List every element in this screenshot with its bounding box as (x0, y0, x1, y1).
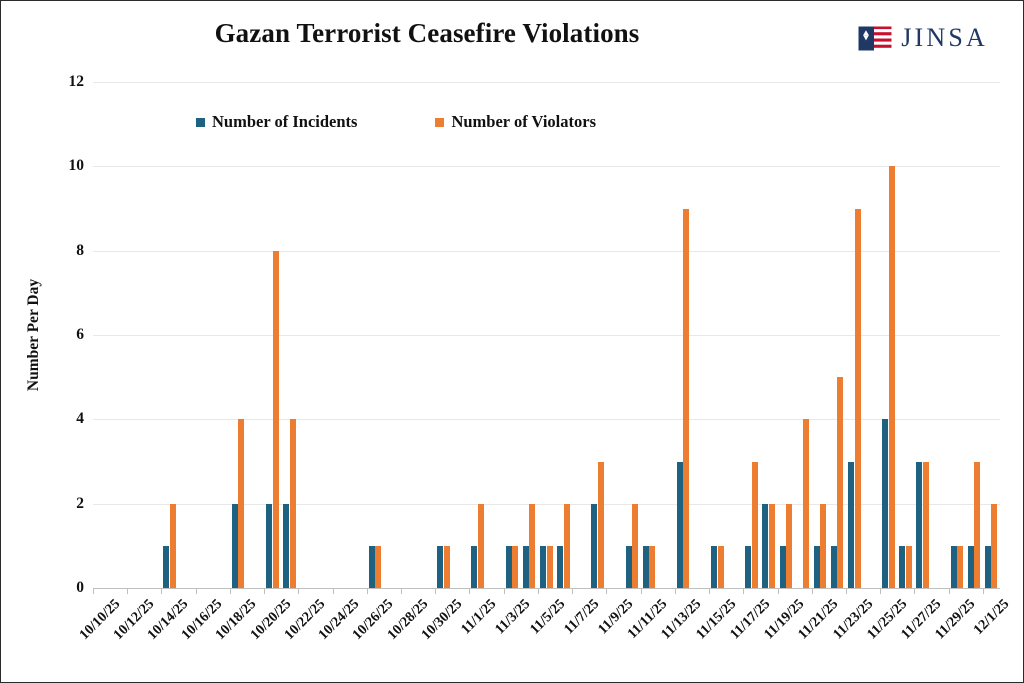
bar-group[interactable] (315, 82, 332, 588)
bar-violators[interactable] (598, 462, 604, 589)
x-axis-tick (504, 588, 505, 594)
bar-violators[interactable] (375, 546, 381, 588)
bar-incidents[interactable] (951, 546, 957, 588)
x-axis-tick (367, 588, 368, 594)
bar-incidents[interactable] (369, 546, 375, 588)
bar-series-group (93, 82, 1000, 588)
bar-violators[interactable] (632, 504, 638, 588)
bar-incidents[interactable] (591, 504, 597, 588)
bar-group[interactable] (692, 82, 709, 588)
bar-group[interactable] (247, 82, 264, 588)
bar-group[interactable] (179, 82, 196, 588)
bar-violators[interactable] (547, 546, 553, 588)
bar-group[interactable] (230, 82, 247, 588)
bar-group[interactable] (161, 82, 178, 588)
bar-violators[interactable] (803, 419, 809, 588)
bar-group[interactable] (966, 82, 983, 588)
bar-violators[interactable] (991, 504, 997, 588)
bar-violators[interactable] (923, 462, 929, 589)
x-axis-tick (230, 588, 231, 594)
bar-incidents[interactable] (232, 504, 238, 588)
bar-violators[interactable] (649, 546, 655, 588)
x-axis-tick (983, 588, 984, 594)
x-axis-tick (709, 588, 710, 594)
bar-group[interactable] (555, 82, 572, 588)
bar-group[interactable] (213, 82, 230, 588)
bar-group[interactable] (350, 82, 367, 588)
x-axis-tick (880, 588, 881, 594)
bar-group[interactable] (298, 82, 315, 588)
bar-group[interactable] (846, 82, 863, 588)
y-axis-tick-label-6: 6 (76, 326, 84, 344)
bar-group[interactable] (812, 82, 829, 588)
bar-incidents[interactable] (899, 546, 905, 588)
bar-group[interactable] (452, 82, 469, 588)
y-axis-tick-label-0: 0 (76, 579, 84, 597)
bar-group[interactable] (281, 82, 298, 588)
bar-group[interactable] (469, 82, 486, 588)
bar-violators[interactable] (683, 209, 689, 589)
x-axis-tick (435, 588, 436, 594)
bar-violators[interactable] (974, 462, 980, 589)
bar-incidents[interactable] (745, 546, 751, 588)
x-axis-tick (778, 588, 779, 594)
bar-group[interactable] (606, 82, 623, 588)
bar-incidents[interactable] (968, 546, 974, 588)
y-axis-tick-label-10: 10 (69, 157, 85, 175)
bar-violators[interactable] (512, 546, 518, 588)
jinsa-logo: JINSA (858, 22, 988, 54)
bar-violators[interactable] (752, 462, 758, 589)
y-axis-tick-label-8: 8 (76, 242, 84, 260)
bar-incidents[interactable] (163, 546, 169, 588)
bar-incidents[interactable] (557, 546, 563, 588)
bar-incidents[interactable] (985, 546, 991, 588)
bar-incidents[interactable] (643, 546, 649, 588)
bar-group[interactable] (384, 82, 401, 588)
x-axis-tick (93, 588, 94, 594)
bar-group[interactable] (983, 82, 1000, 588)
bar-incidents[interactable] (283, 504, 289, 588)
bar-incidents[interactable] (814, 546, 820, 588)
x-axis-tick (161, 588, 162, 594)
x-axis-tick-label: 11/5/25 (526, 596, 568, 638)
bar-incidents[interactable] (540, 546, 546, 588)
bar-violators[interactable] (837, 377, 843, 588)
bar-group[interactable] (932, 82, 949, 588)
bar-group[interactable] (675, 82, 692, 588)
y-axis-tick-label-12: 12 (69, 73, 85, 91)
bar-group[interactable] (110, 82, 127, 588)
bar-group[interactable] (795, 82, 812, 588)
x-axis-tick (127, 588, 128, 594)
bar-group[interactable] (778, 82, 795, 588)
bar-violators[interactable] (820, 504, 826, 588)
x-axis-tick (469, 588, 470, 594)
bar-group[interactable] (333, 82, 350, 588)
bar-group[interactable] (572, 82, 589, 588)
x-axis-tick (812, 588, 813, 594)
y-axis-tick-label-2: 2 (76, 495, 84, 513)
bar-group[interactable] (949, 82, 966, 588)
bar-group[interactable] (367, 82, 384, 588)
bar-group[interactable] (589, 82, 606, 588)
bar-violators[interactable] (786, 504, 792, 588)
bar-incidents[interactable] (916, 462, 922, 589)
bar-group[interactable] (144, 82, 161, 588)
x-axis-tick (846, 588, 847, 594)
bar-group[interactable] (435, 82, 452, 588)
bar-violators[interactable] (564, 504, 570, 588)
bar-incidents[interactable] (780, 546, 786, 588)
y-axis-title: Number Per Day (25, 279, 43, 391)
bar-group[interactable] (760, 82, 777, 588)
jinsa-flag-star-icon (858, 26, 892, 51)
bar-group[interactable] (641, 82, 658, 588)
bar-group[interactable] (196, 82, 213, 588)
x-axis-tick (196, 588, 197, 594)
bar-group[interactable] (487, 82, 504, 588)
bar-group[interactable] (264, 82, 281, 588)
bar-incidents[interactable] (762, 504, 768, 588)
bar-incidents[interactable] (506, 546, 512, 588)
bar-group[interactable] (538, 82, 555, 588)
chart-container: Gazan Terrorist Ceasefire Violations (0, 0, 1024, 683)
bar-group[interactable] (624, 82, 641, 588)
bar-group[interactable] (521, 82, 538, 588)
y-axis-tick-label-4: 4 (76, 410, 84, 428)
bar-violators[interactable] (290, 419, 296, 588)
bar-incidents[interactable] (523, 546, 529, 588)
bar-group[interactable] (93, 82, 110, 588)
bar-violators[interactable] (769, 504, 775, 588)
bar-group[interactable] (914, 82, 931, 588)
x-axis-tick (333, 588, 334, 594)
x-axis-tick (641, 588, 642, 594)
bar-incidents[interactable] (437, 546, 443, 588)
bar-violators[interactable] (273, 251, 279, 588)
y-axis-ticks: 024681012 (0, 82, 93, 588)
x-axis-ticks (93, 588, 1000, 595)
bar-group[interactable] (127, 82, 144, 588)
x-axis-tick (298, 588, 299, 594)
x-axis-tick (264, 588, 265, 594)
bar-group[interactable] (863, 82, 880, 588)
bar-group[interactable] (658, 82, 675, 588)
bar-violators[interactable] (906, 546, 912, 588)
bar-violators[interactable] (170, 504, 176, 588)
x-axis-tick-label: 12/1/25 (971, 596, 1014, 639)
bar-group[interactable] (418, 82, 435, 588)
bar-group[interactable] (504, 82, 521, 588)
jinsa-wordmark: JINSA (901, 25, 988, 51)
bar-violators[interactable] (855, 209, 861, 589)
x-axis-tick (743, 588, 744, 594)
chart-header: Gazan Terrorist Ceasefire Violations (0, 0, 1024, 70)
bar-violators[interactable] (238, 419, 244, 588)
plot-area (93, 82, 1000, 588)
bar-violators[interactable] (478, 504, 484, 588)
bar-violators[interactable] (529, 504, 535, 588)
x-axis-tick (606, 588, 607, 594)
x-axis-tick (675, 588, 676, 594)
bar-group[interactable] (709, 82, 726, 588)
bar-group[interactable] (880, 82, 897, 588)
bar-incidents[interactable] (626, 546, 632, 588)
x-axis-tick-label: 11/3/25 (492, 596, 534, 638)
x-axis-labels: 10/10/2510/12/2510/14/2510/16/2510/18/25… (93, 596, 1000, 682)
x-axis-tick-label: 11/7/25 (561, 596, 603, 638)
bar-group[interactable] (743, 82, 760, 588)
bar-violators[interactable] (444, 546, 450, 588)
bar-incidents[interactable] (848, 462, 854, 589)
bar-group[interactable] (829, 82, 846, 588)
bar-group[interactable] (401, 82, 418, 588)
bar-group[interactable] (726, 82, 743, 588)
bar-group[interactable] (897, 82, 914, 588)
bar-violators[interactable] (718, 546, 724, 588)
bar-incidents[interactable] (831, 546, 837, 588)
x-axis-tick-label: 11/1/25 (458, 596, 500, 638)
bar-violators[interactable] (889, 166, 895, 588)
bar-violators[interactable] (957, 546, 963, 588)
bar-incidents[interactable] (711, 546, 717, 588)
x-axis-tick (949, 588, 950, 594)
x-axis-tick (572, 588, 573, 594)
x-axis-tick (538, 588, 539, 594)
bar-incidents[interactable] (266, 504, 272, 588)
x-axis-tick (914, 588, 915, 594)
x-axis-tick (401, 588, 402, 594)
bar-incidents[interactable] (677, 462, 683, 589)
bar-incidents[interactable] (882, 419, 888, 588)
bar-incidents[interactable] (471, 546, 477, 588)
